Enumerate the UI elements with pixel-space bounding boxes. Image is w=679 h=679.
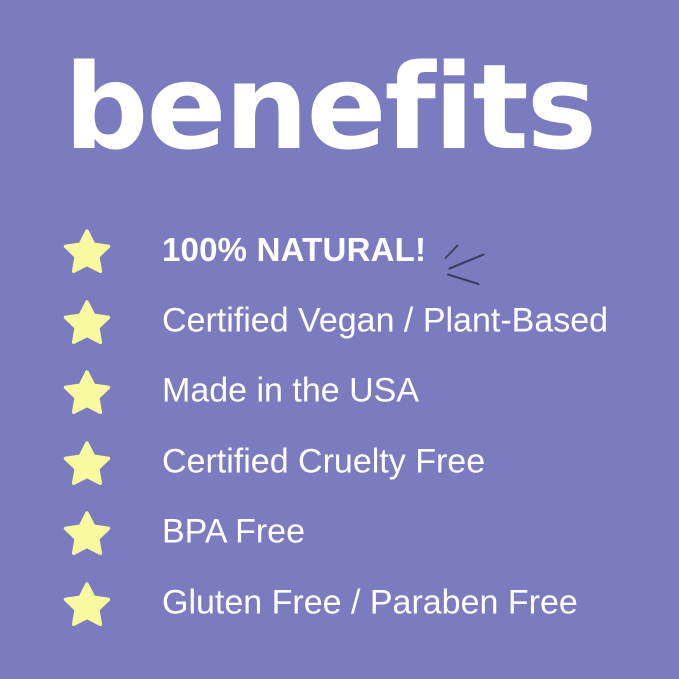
benefit-label: Certified Vegan / Plant-Based xyxy=(162,302,608,339)
star-icon xyxy=(64,580,110,626)
benefit-row: Made in the USA xyxy=(0,356,679,427)
benefit-row: BPA Free xyxy=(0,497,679,568)
sparkle-icon xyxy=(436,227,496,287)
benefits-list: 100% NATURAL!Certified Vegan / Plant-Bas… xyxy=(0,215,679,638)
star-icon xyxy=(64,227,110,273)
benefit-label: BPA Free xyxy=(162,514,305,551)
benefit-row: 100% NATURAL! xyxy=(0,215,679,286)
star-icon xyxy=(64,439,110,485)
benefit-row: Gluten Free / Paraben Free xyxy=(0,568,679,639)
star-icon xyxy=(64,298,110,344)
star-icon xyxy=(64,509,110,555)
benefit-row: Certified Cruelty Free xyxy=(0,427,679,498)
benefits-poster: benefits 100% NATURAL!Certified Vegan / … xyxy=(0,0,679,679)
benefit-label: Gluten Free / Paraben Free xyxy=(162,584,578,621)
star-icon xyxy=(64,368,110,414)
page-title: benefits xyxy=(64,48,595,166)
benefit-label: 100% NATURAL! xyxy=(162,232,426,268)
benefit-label: Made in the USA xyxy=(162,373,419,410)
benefit-label: Certified Cruelty Free xyxy=(162,443,485,480)
benefit-row: Certified Vegan / Plant-Based xyxy=(0,286,679,357)
